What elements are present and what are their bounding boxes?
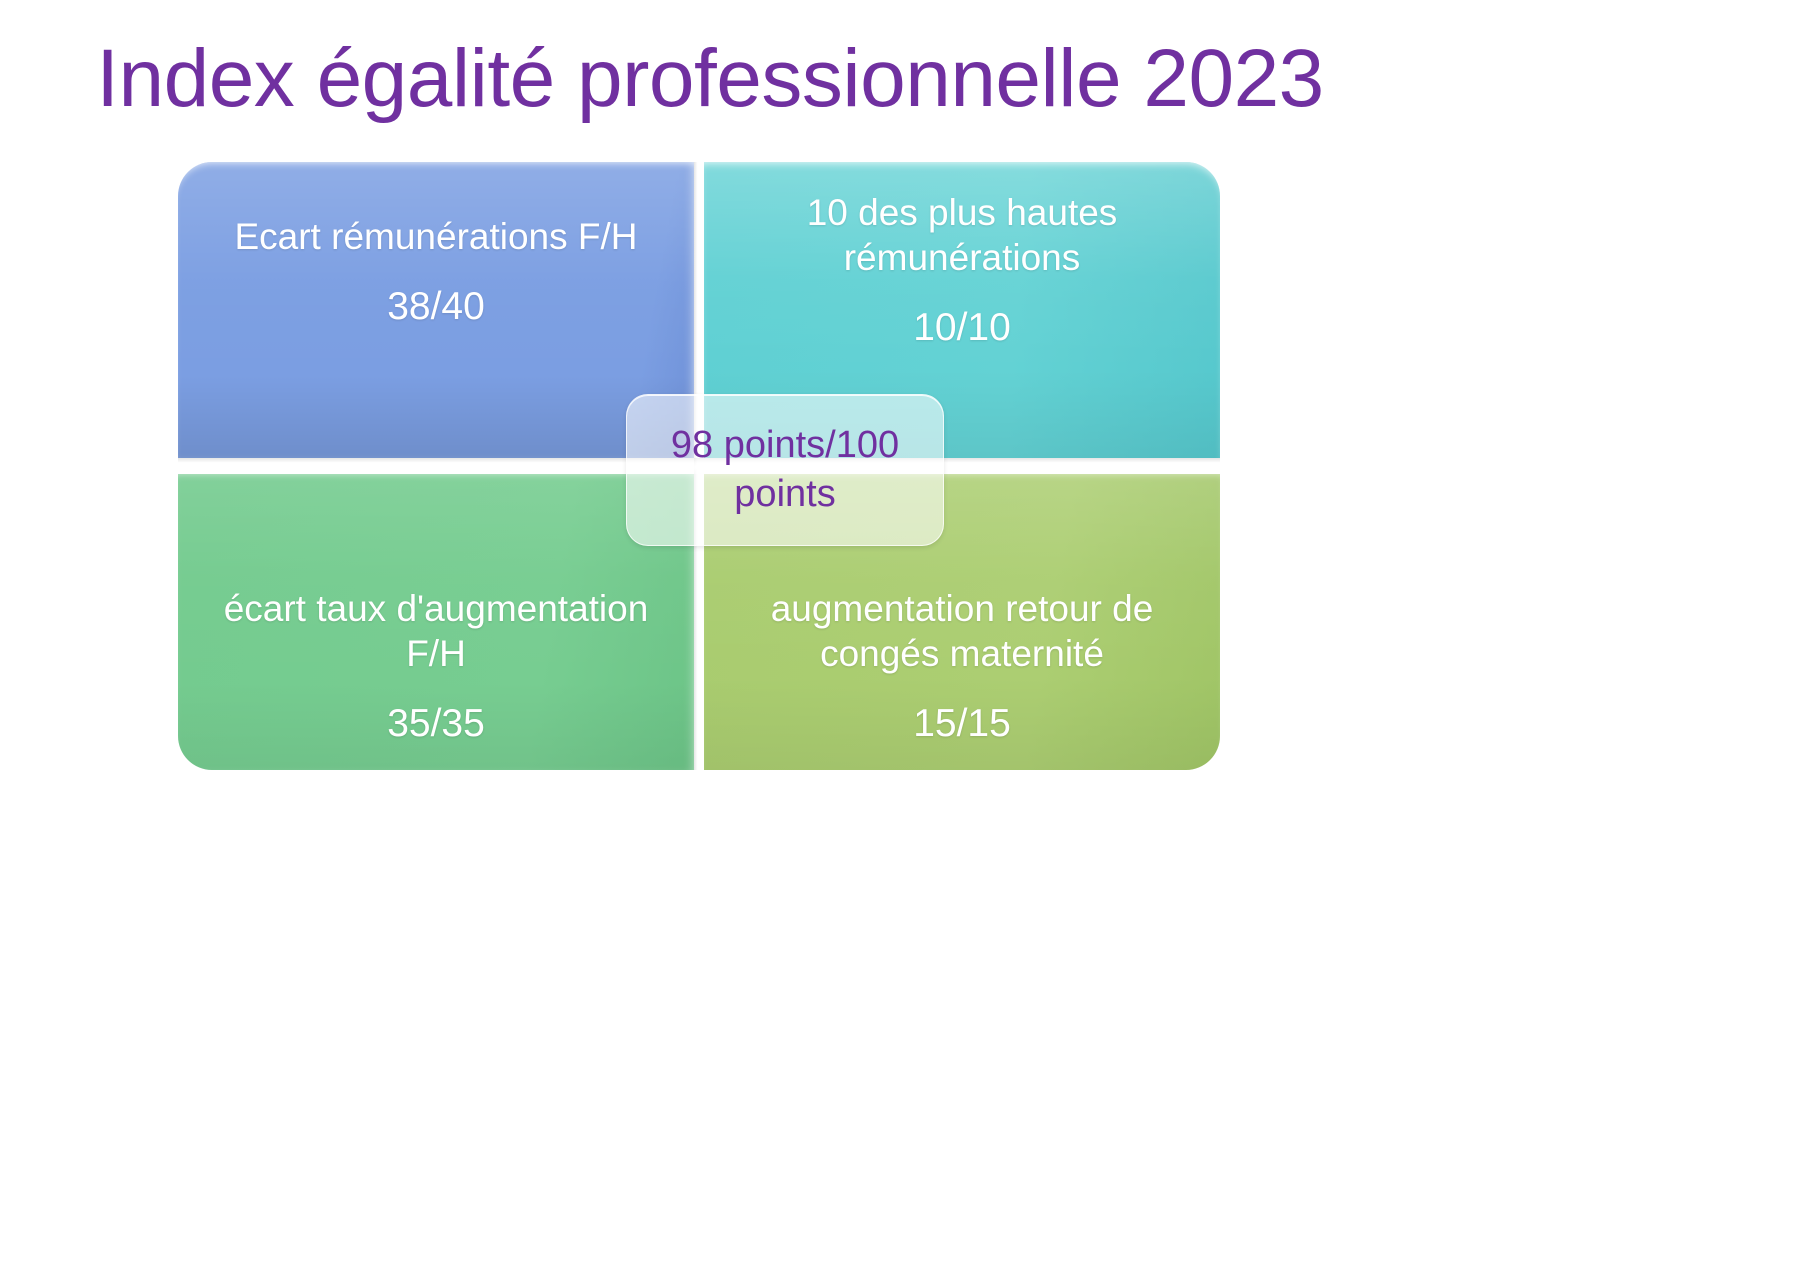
total-score-text: 98 points/100 points [637, 421, 933, 518]
quadrant-score: 38/40 [196, 283, 676, 331]
quadrant-ecart-remunerations[interactable]: Ecart rémunérations F/H 38/40 [178, 162, 694, 458]
quadrant-content: écart taux d'augmentation F/H 35/35 [178, 586, 694, 748]
quadrant-content: Ecart rémunérations F/H 38/40 [178, 214, 694, 331]
quadrant-matrix: Ecart rémunérations F/H 38/40 10 des plu… [178, 162, 1220, 770]
quadrant-score: 10/10 [722, 304, 1202, 352]
quadrant-label: augmentation retour de congés maternité [722, 586, 1202, 676]
page-title: Index égalité professionnelle 2023 [0, 34, 1420, 124]
quadrant-score: 15/15 [722, 700, 1202, 748]
quadrant-ecart-taux-augmentation[interactable]: écart taux d'augmentation F/H 35/35 [178, 474, 694, 770]
quadrant-content: 10 des plus hautes rémunérations 10/10 [704, 190, 1220, 352]
quadrant-label: écart taux d'augmentation F/H [196, 586, 676, 676]
quadrant-score: 35/35 [196, 700, 676, 748]
quadrant-label: 10 des plus hautes rémunérations [722, 190, 1202, 280]
quadrant-label: Ecart rémunérations F/H [196, 214, 676, 259]
total-score-badge: 98 points/100 points [626, 394, 944, 546]
quadrant-content: augmentation retour de congés maternité … [704, 586, 1220, 748]
